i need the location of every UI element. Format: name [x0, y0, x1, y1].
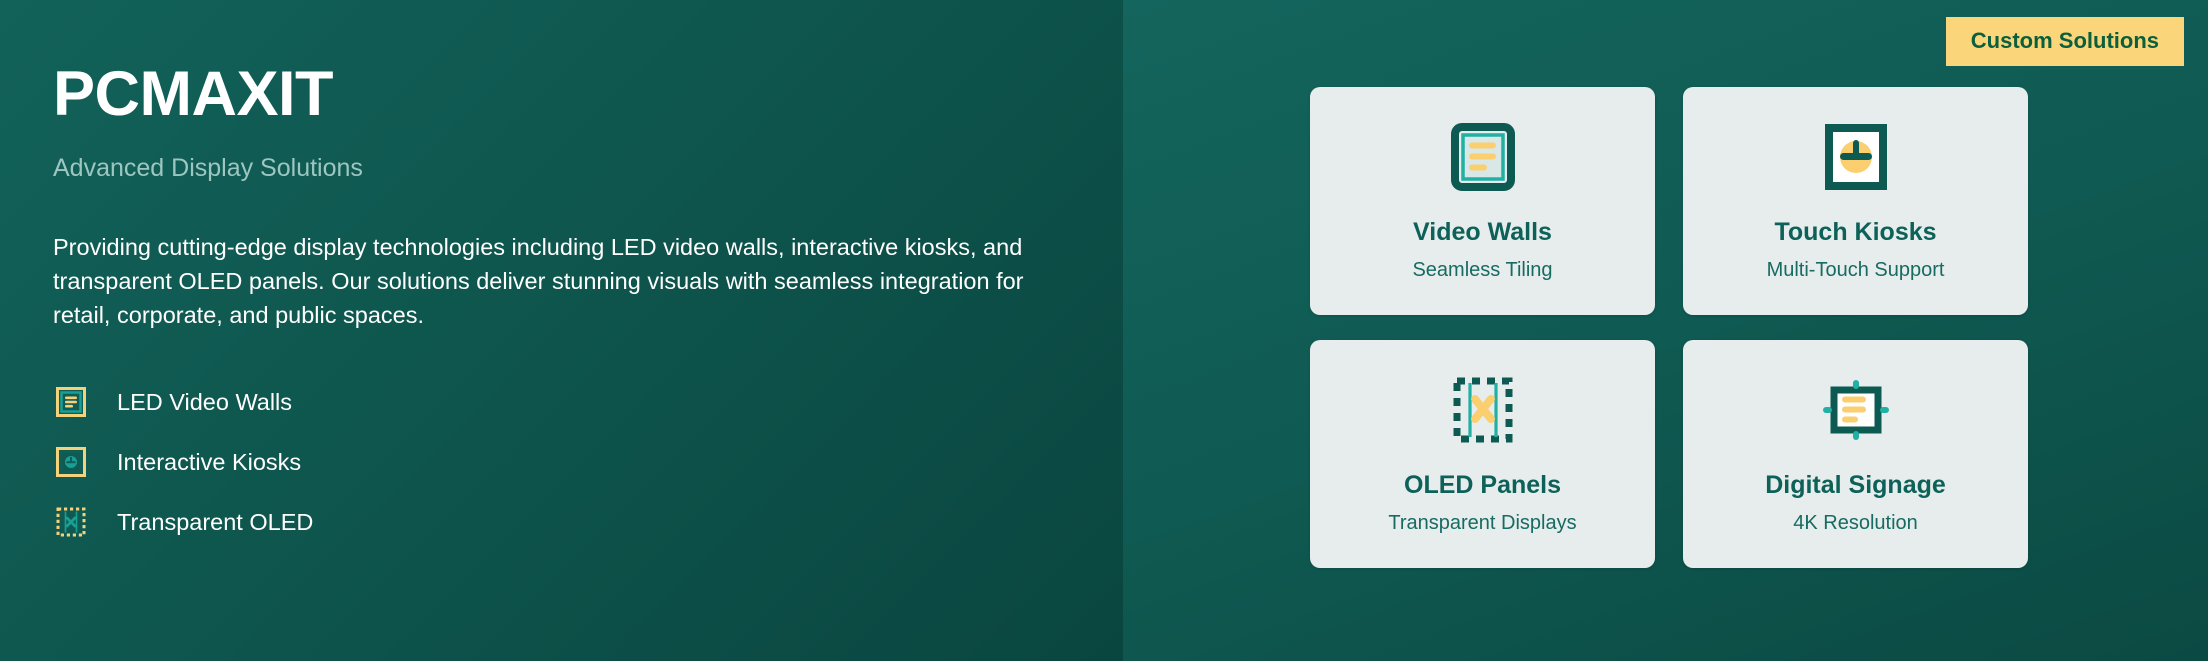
product-card-touch-kiosks[interactable]: Touch Kiosks Multi-Touch Support	[1683, 87, 2028, 315]
feature-label: LED Video Walls	[117, 389, 292, 416]
hero-description: Providing cutting-edge display technolog…	[53, 231, 1083, 332]
card-title: Touch Kiosks	[1774, 220, 1936, 245]
card-subtitle: 4K Resolution	[1793, 513, 1918, 533]
product-card-digital-signage[interactable]: Digital Signage 4K Resolution	[1683, 340, 2028, 568]
video-wall-icon	[56, 387, 86, 417]
list-item: Interactive Kiosks	[53, 432, 1123, 492]
page-title: PCMAXIT	[53, 63, 1123, 126]
product-card-oled-panels[interactable]: OLED Panels Transparent Displays	[1310, 340, 1655, 568]
brand-tagline: Advanced Display Solutions	[53, 154, 1123, 183]
card-title: Digital Signage	[1765, 473, 1946, 498]
video-wall-icon	[1441, 115, 1525, 199]
list-item: LED Video Walls	[53, 372, 1123, 432]
custom-solutions-badge[interactable]: Custom Solutions	[1946, 17, 2184, 66]
card-subtitle: Transparent Displays	[1388, 513, 1576, 533]
card-title: Video Walls	[1413, 220, 1552, 245]
list-item: Transparent OLED	[53, 492, 1123, 552]
oled-panel-icon	[56, 507, 86, 537]
feature-label: Transparent OLED	[117, 509, 313, 536]
feature-label: Interactive Kiosks	[117, 449, 301, 476]
touch-kiosk-icon	[56, 447, 86, 477]
right-showcase-panel: Custom Solutions Video Walls Seamless Ti…	[1123, 0, 2208, 661]
hero-banner: PCMAXIT Advanced Display Solutions Provi…	[0, 0, 2208, 661]
card-subtitle: Multi-Touch Support	[1767, 260, 1945, 280]
touch-kiosk-icon	[1814, 115, 1898, 199]
digital-signage-icon	[1814, 368, 1898, 452]
card-title: OLED Panels	[1404, 473, 1561, 498]
feature-list: LED Video Walls Interactive Kiosks	[53, 372, 1123, 552]
card-subtitle: Seamless Tiling	[1412, 260, 1552, 280]
product-card-video-walls[interactable]: Video Walls Seamless Tiling	[1310, 87, 1655, 315]
oled-panel-icon	[1441, 368, 1525, 452]
left-content-panel: PCMAXIT Advanced Display Solutions Provi…	[0, 0, 1123, 661]
product-card-grid: Video Walls Seamless Tiling Touch Kiosks…	[1310, 87, 2028, 568]
